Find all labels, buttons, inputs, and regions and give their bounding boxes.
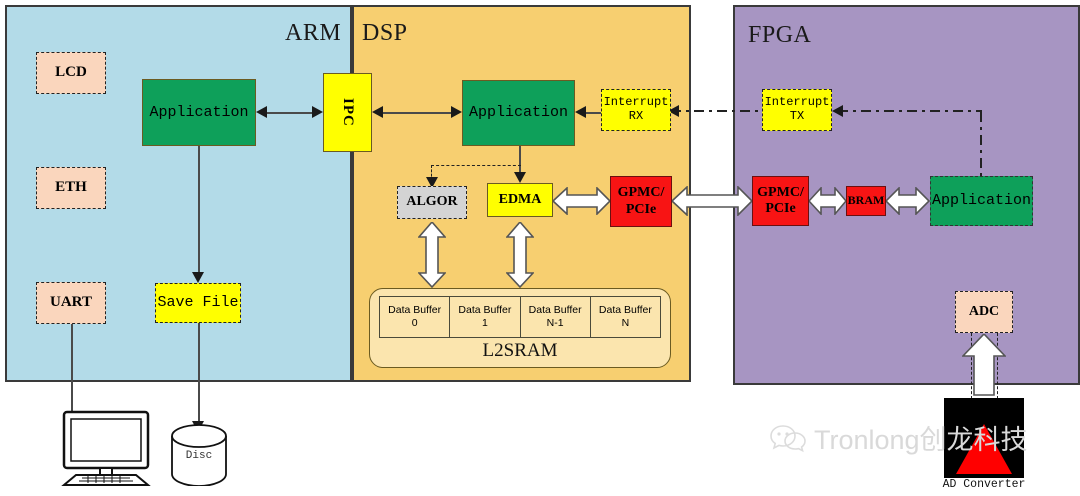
box-gpmc-pcie-fpga[interactable]: GPMC/ PCIe <box>752 176 809 226</box>
watermark-text: Tronlong创龙科技 <box>814 418 1028 457</box>
edma-label: EDMA <box>499 192 542 208</box>
connector-savefile-disc <box>198 323 200 427</box>
dsp-application-label: Application <box>469 104 568 121</box>
interrupt-rx-line1: Interrupt <box>604 95 669 109</box>
box-arm-application[interactable]: Application <box>142 79 256 146</box>
arrowhead-right-ipc <box>312 106 323 118</box>
monitor-icon <box>60 410 152 486</box>
gpmc-dsp-line1: GPMC/ <box>618 185 665 200</box>
connector-armapp-ipc <box>262 112 318 114</box>
data-buffer-0[interactable]: Data Buffer 0 <box>380 297 449 337</box>
box-fpga-application[interactable]: Application <box>930 176 1033 226</box>
data-buffer-0-line2: 0 <box>412 317 418 330</box>
connector-ipc-dspapp <box>378 112 458 114</box>
data-buffer-0-line1: Data Buffer <box>388 304 441 317</box>
data-buffer-row: Data Buffer 0 Data Buffer 1 Data Buffer … <box>379 296 661 338</box>
watermark: Tronlong创龙科技 <box>770 418 1028 457</box>
lcd-label: LCD <box>55 64 87 81</box>
connector-armapp-savefile <box>198 146 200 277</box>
box-eth[interactable]: ETH <box>36 167 106 209</box>
save-file-label: Save File <box>157 294 238 311</box>
box-interrupt-rx[interactable]: Interrupt RX <box>601 89 671 131</box>
arrowhead-left-dspapp-irq <box>575 106 586 118</box>
interrupt-tx-line2: TX <box>790 109 804 123</box>
blockarrow-adconv-adc <box>962 334 1006 396</box>
l2sram-label: L2SRAM <box>369 340 671 362</box>
adc-label: ADC <box>969 304 999 320</box>
panel-title-arm: ARM <box>285 20 341 47</box>
panel-title-dsp: DSP <box>362 20 408 47</box>
box-interrupt-tx[interactable]: Interrupt TX <box>762 89 832 131</box>
arrowhead-left-armapp <box>256 106 267 118</box>
box-ipc[interactable]: IPC <box>323 73 372 152</box>
gpmc-fpga-line1: GPMC/ <box>757 185 804 200</box>
box-bram[interactable]: BRAM <box>846 186 886 216</box>
connector-fpgaapp-to-irqtx <box>838 110 982 112</box>
data-buffer-n-minus-1[interactable]: Data Buffer N-1 <box>520 297 590 337</box>
gpmc-dsp-line2: PCIe <box>626 202 656 217</box>
data-buffer-n-minus-1-line1: Data Buffer <box>529 304 582 317</box>
connector-irq-tx-to-rx <box>671 110 762 112</box>
arrowhead-left-ipc <box>372 106 383 118</box>
data-buffer-n[interactable]: Data Buffer N <box>590 297 660 337</box>
connector-uart-monitor <box>71 324 73 418</box>
blockarrow-bram-fpgaapp <box>886 187 930 215</box>
data-buffer-n-minus-1-line2: N-1 <box>547 317 564 330</box>
ad-converter-label: AD Converter <box>914 478 1054 491</box>
gpmc-fpga-line2: PCIe <box>765 201 795 216</box>
data-buffer-n-line2: N <box>622 317 630 330</box>
connector-dashed-branch-algor <box>431 165 521 166</box>
uart-label: UART <box>50 294 92 311</box>
blockarrow-edma-l2sram <box>506 222 534 288</box>
box-gpmc-pcie-dsp[interactable]: GPMC/ PCIe <box>610 176 672 227</box>
wechat-icon <box>770 423 806 453</box>
connector-fpgaapp-up <box>980 112 982 178</box>
arrowhead-down-edma <box>514 172 526 183</box>
arrowhead-left-irqtx <box>832 105 843 117</box>
eth-label: ETH <box>55 179 87 196</box>
data-buffer-n-line1: Data Buffer <box>599 304 652 317</box>
fpga-application-label: Application <box>932 192 1031 209</box>
ipc-label: IPC <box>339 98 356 127</box>
box-lcd[interactable]: LCD <box>36 52 106 94</box>
data-buffer-1-line2: 1 <box>482 317 488 330</box>
arm-application-label: Application <box>149 104 248 121</box>
blockarrow-dsp-fpga-bus <box>672 186 753 216</box>
data-buffer-1[interactable]: Data Buffer 1 <box>449 297 519 337</box>
box-dsp-application[interactable]: Application <box>462 80 575 146</box>
disc-label: Disc <box>170 450 228 462</box>
bram-label: BRAM <box>848 194 885 208</box>
box-adc[interactable]: ADC <box>955 291 1013 333</box>
arrowhead-right-dspapp <box>451 106 462 118</box>
panel-title-fpga: FPGA <box>748 22 811 49</box>
diagram-canvas: ARM DSP FPGA <box>0 0 1080 496</box>
box-save-file[interactable]: Save File <box>155 283 241 323</box>
algor-label: ALGOR <box>406 194 457 210</box>
box-algor[interactable]: ALGOR <box>397 186 467 219</box>
data-buffer-1-line1: Data Buffer <box>458 304 511 317</box>
arrowhead-down-savefile <box>192 272 204 283</box>
blockarrow-gpmc-bram <box>809 187 847 215</box>
box-uart[interactable]: UART <box>36 282 106 324</box>
blockarrow-edma-gpmc <box>553 187 611 215</box>
box-edma[interactable]: EDMA <box>487 183 553 217</box>
interrupt-tx-line1: Interrupt <box>765 95 830 109</box>
blockarrow-algor-l2sram <box>418 222 446 288</box>
interrupt-rx-line2: RX <box>629 109 643 123</box>
